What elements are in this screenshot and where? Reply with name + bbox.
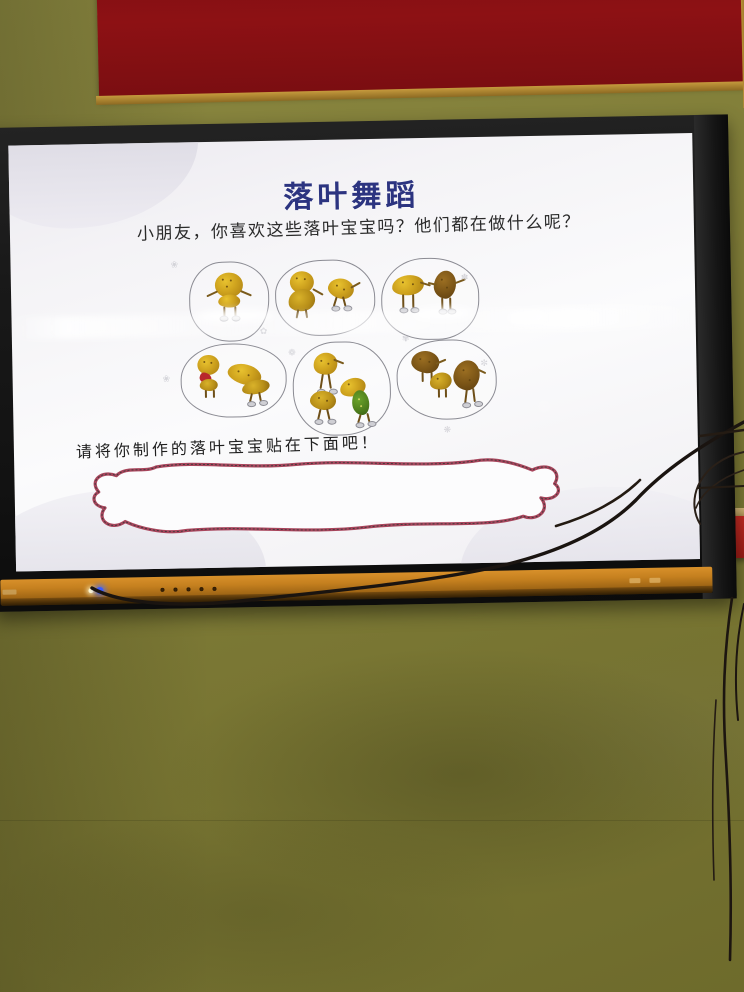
figure-bubble-row-top: [188, 257, 479, 344]
wall-seam-line: [0, 820, 744, 821]
figure-bubble-5: [292, 341, 392, 437]
control-button-dot[interactable]: [199, 587, 203, 591]
decor-stamp: ✽: [461, 273, 469, 283]
decor-stamp: ❁: [288, 348, 296, 358]
display-screen[interactable]: 落叶舞蹈 小朋友，你喜欢这些落叶宝宝吗？他们都在做什么呢？: [8, 133, 700, 571]
leaf-figure: [206, 270, 253, 321]
leaf-figure: [338, 376, 385, 427]
usb-port-icon[interactable]: [629, 578, 640, 583]
leaf-figure: [191, 353, 228, 400]
device-ports[interactable]: [629, 578, 660, 584]
power-led-blue-icon: [96, 587, 103, 594]
figure-bubble-1: [188, 261, 269, 342]
leaf-figure: [390, 273, 433, 326]
figure-bubble-4: [180, 343, 287, 419]
power-led-white-icon: [88, 588, 93, 593]
leaf-figure: [225, 362, 278, 407]
decor-stamp: ✾: [402, 334, 410, 344]
figure-bubble-6: [396, 339, 497, 421]
control-buttons[interactable]: [160, 587, 216, 592]
decor-stamp: ✿: [260, 327, 268, 337]
paste-area-frame: [66, 453, 587, 541]
leaf-figure: [324, 276, 363, 321]
control-button-dot[interactable]: [160, 588, 164, 592]
figure-bubble-row-bottom: [180, 339, 498, 439]
control-button-dot[interactable]: [186, 587, 190, 591]
decor-stamp: ❀: [163, 375, 171, 385]
decor-stamp: ✼: [480, 359, 488, 369]
leaf-figure: [284, 267, 325, 320]
figure-bubble-3: [380, 257, 479, 341]
slide-content: 落叶舞蹈 小朋友，你喜欢这些落叶宝宝吗？他们都在做什么呢？: [8, 133, 700, 571]
decor-stamp: ❀: [170, 261, 178, 271]
control-button-dot[interactable]: [173, 588, 177, 592]
interactive-whiteboard[interactable]: 落叶舞蹈 小朋友，你喜欢这些落叶宝宝吗？他们都在做什么呢？: [0, 114, 737, 612]
hdmi-port-icon[interactable]: [649, 578, 660, 583]
decor-stamp: ❋: [444, 426, 452, 436]
side-port-icon: [2, 590, 16, 595]
control-button-dot[interactable]: [212, 587, 216, 591]
figure-bubble-2: [274, 259, 375, 337]
